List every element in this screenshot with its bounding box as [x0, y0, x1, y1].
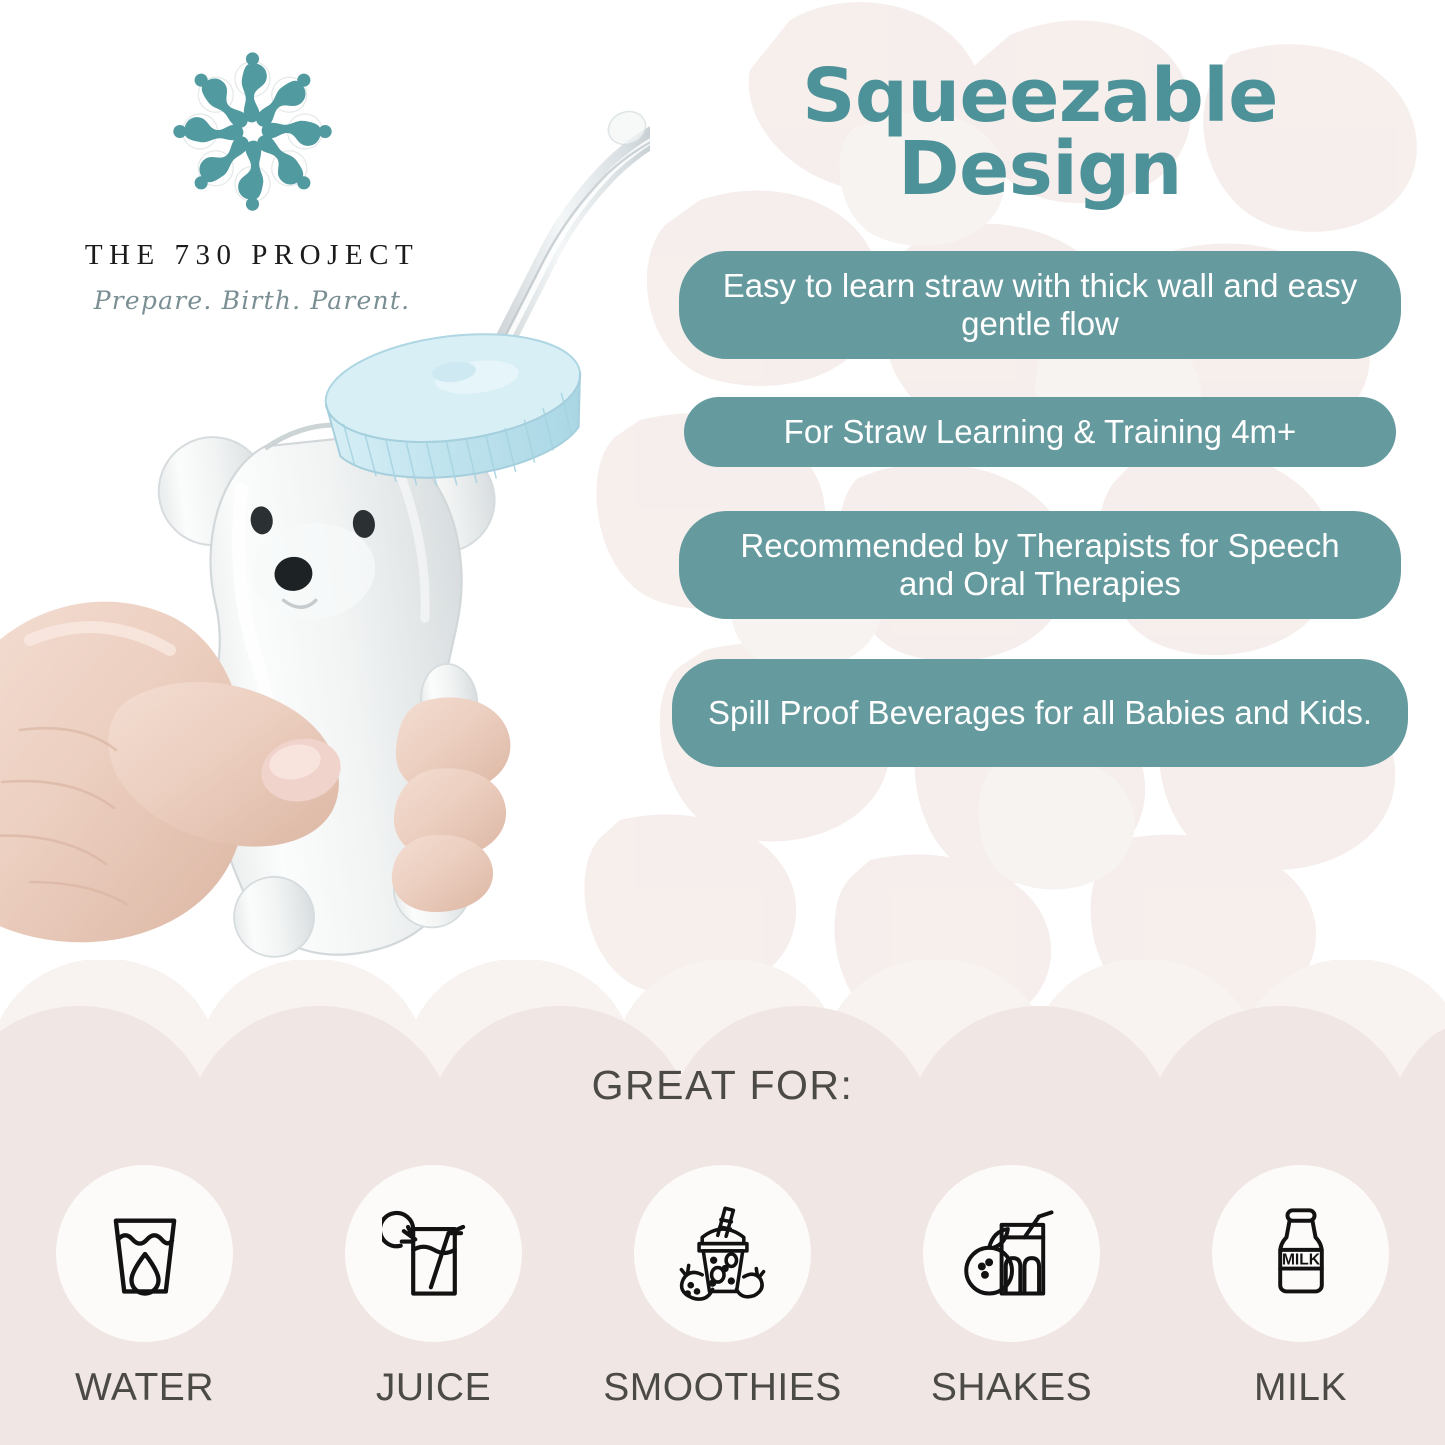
infographic-canvas: THE 730 PROJECT Prepare. Birth. Parent. — [0, 0, 1445, 1445]
water-icon-disc — [56, 1165, 233, 1342]
milk-bottle-label: MILK — [1281, 1251, 1320, 1268]
page-title: Squeezable Design — [660, 60, 1420, 205]
great-for-item-shakes: SHAKES — [867, 1165, 1156, 1435]
smoothie-cup-strawberry-icon — [671, 1202, 775, 1306]
milk-bottle-icon: MILK — [1249, 1202, 1353, 1306]
shake-glass-orange-icon — [960, 1202, 1064, 1306]
shakes-icon-disc — [923, 1165, 1100, 1342]
feature-pill-3: Recommended by Therapists for Speech and… — [679, 511, 1401, 619]
feature-pill-4: Spill Proof Beverages for all Babies and… — [672, 659, 1408, 767]
brand-name: THE 730 PROJECT — [52, 239, 452, 272]
juice-label: JUICE — [376, 1366, 491, 1410]
feature-pill-3-label: Recommended by Therapists for Speech and… — [713, 527, 1367, 604]
great-for-icon-row: WATER JUICE — [0, 1165, 1445, 1435]
water-spray-graphic — [603, 38, 650, 150]
feature-column: Squeezable Design Easy to learn straw wi… — [660, 60, 1420, 767]
milk-label: MILK — [1254, 1366, 1347, 1410]
headline-line-1: Squeezable — [660, 60, 1420, 133]
milk-icon-disc: MILK — [1212, 1165, 1389, 1342]
feature-pill-4-label: Spill Proof Beverages for all Babies and… — [708, 694, 1372, 732]
feature-pill-1: Easy to learn straw with thick wall and … — [679, 251, 1401, 359]
smoothies-icon-disc — [634, 1165, 811, 1342]
juice-icon-disc — [345, 1165, 522, 1342]
water-glass-icon — [93, 1202, 197, 1306]
great-for-item-milk: MILK MILK — [1156, 1165, 1445, 1435]
water-label: WATER — [75, 1366, 214, 1410]
circular-swirl-logo-icon — [165, 44, 340, 219]
brand-logo-block: THE 730 PROJECT Prepare. Birth. Parent. — [52, 44, 452, 315]
great-for-item-smoothies: SMOOTHIES — [578, 1165, 867, 1435]
juice-glass-lemon-icon — [382, 1202, 486, 1306]
feature-pill-1-label: Easy to learn straw with thick wall and … — [713, 267, 1367, 344]
shakes-label: SHAKES — [931, 1366, 1092, 1410]
feature-pill-2: For Straw Learning & Training 4m+ — [684, 397, 1396, 467]
headline-line-2: Design — [660, 133, 1420, 206]
smoothies-label: SMOOTHIES — [603, 1366, 842, 1410]
great-for-item-juice: JUICE — [289, 1165, 578, 1435]
straw-graphic — [487, 120, 650, 372]
great-for-heading: GREAT FOR: — [0, 1062, 1445, 1109]
brand-tagline: Prepare. Birth. Parent. — [52, 286, 452, 315]
feature-pill-2-label: For Straw Learning & Training 4m+ — [784, 413, 1297, 451]
great-for-item-water: WATER — [0, 1165, 289, 1435]
